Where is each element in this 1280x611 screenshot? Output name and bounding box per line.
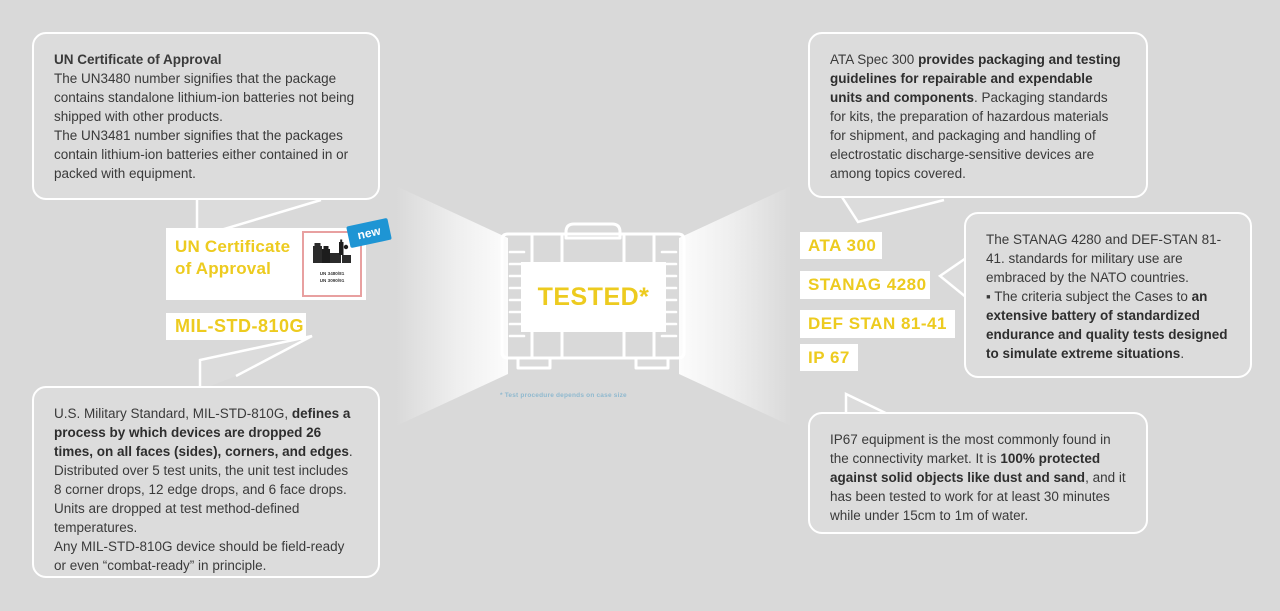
tag-stanag-4280: STANAG 4280 <box>800 271 930 299</box>
tag-ata-300: ATA 300 <box>800 232 882 259</box>
callout-tail-mil <box>196 334 316 392</box>
tested-label: TESTED* <box>521 262 666 332</box>
callout-stanag-bullet-part1: The criteria subject the Cases to <box>991 289 1192 304</box>
tested-footnote: * Test procedure depends on case size <box>500 392 760 399</box>
callout-mil-line2: Any MIL-STD-810G device should be field-… <box>54 537 358 575</box>
callout-mil-paragraph: U.S. Military Standard, MIL-STD-810G, de… <box>54 404 358 537</box>
tag-def-stan-81-41: DEF STAN 81-41 <box>800 310 955 338</box>
callout-ata-part1: ATA Spec 300 <box>830 52 918 67</box>
lithium-battery-icon <box>309 238 355 268</box>
un-certificate-card-line2: of Approval <box>175 258 300 280</box>
callout-un-line1: The UN3480 number signifies that the pac… <box>54 69 358 126</box>
callout-ip67: IP67 equipment is the most commonly foun… <box>808 412 1148 534</box>
callout-ata-spec: ATA Spec 300 provides packaging and test… <box>808 32 1148 198</box>
un-certificate-card-line1: UN Certificate <box>175 236 300 258</box>
callout-mil-std: U.S. Military Standard, MIL-STD-810G, de… <box>32 386 380 578</box>
callout-ip67-paragraph: IP67 equipment is the most commonly foun… <box>830 430 1126 525</box>
infographic-canvas: UN Certificate of Approval The UN3480 nu… <box>0 0 1280 611</box>
tag-mil-std-810g: MIL-STD-810G <box>166 313 306 340</box>
new-badge: new <box>346 218 392 248</box>
callout-stanag-defstan: The STANAG 4280 and DEF-STAN 81-41. stan… <box>964 212 1252 378</box>
callout-un-certificate: UN Certificate of Approval The UN3480 nu… <box>32 32 380 200</box>
callout-ata-paragraph: ATA Spec 300 provides packaging and test… <box>830 50 1126 183</box>
callout-stanag-line1: The STANAG 4280 and DEF-STAN 81-41. stan… <box>986 230 1230 287</box>
un-certificate-card-label: UN Certificate of Approval <box>175 236 300 280</box>
un-badge-code: UN 3480/81 UN 3090/91 <box>304 271 360 284</box>
callout-un-line2: The UN3481 number signifies that the pac… <box>54 126 358 183</box>
un-certificate-card: UN Certificate of Approval UN 3480/81 UN… <box>166 228 366 300</box>
callout-stanag-bullet-part2: . <box>1180 346 1184 361</box>
callout-un-title: UN Certificate of Approval <box>54 50 358 69</box>
un-badge-code-line2: UN 3090/91 <box>304 278 360 285</box>
tag-ip-67: IP 67 <box>800 344 858 371</box>
callout-stanag-bullet: ▪ The criteria subject the Cases to an e… <box>986 287 1230 363</box>
callout-mil-part1: U.S. Military Standard, MIL-STD-810G, <box>54 406 292 421</box>
